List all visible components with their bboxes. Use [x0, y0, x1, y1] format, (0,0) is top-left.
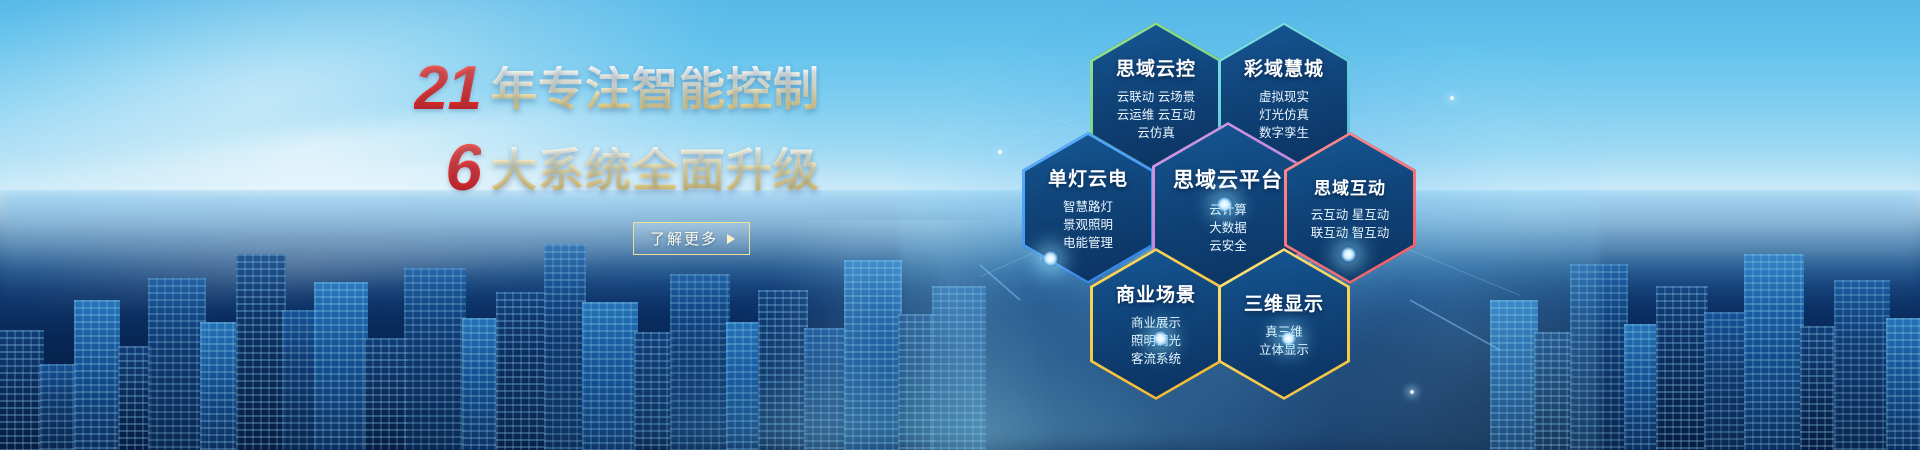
headline-number-6: 6: [445, 134, 481, 200]
learn-more-button[interactable]: 了解更多: [633, 222, 750, 255]
hex-sub-line: 电能管理: [1048, 234, 1128, 252]
headline-text-1: 年专注智能控制: [491, 66, 820, 112]
hex-sub-line: 客流系统: [1116, 350, 1196, 368]
headline-text-2: 大系统全面升级: [491, 147, 820, 193]
hex-sub-line: 虚拟现实: [1244, 88, 1324, 106]
network-node: [1042, 250, 1059, 267]
network-node: [1280, 330, 1297, 347]
hex-title: 三维显示: [1244, 289, 1324, 316]
network-node: [1152, 330, 1169, 347]
hex-sub-line: 云安全: [1173, 237, 1283, 255]
learn-more-label: 了解更多: [650, 228, 718, 249]
hex-sub-line: 景观照明: [1048, 216, 1128, 234]
hex-sub-line: 灯光仿真: [1244, 106, 1324, 124]
network-node: [1340, 246, 1357, 263]
hex-title: 思域云控: [1116, 54, 1196, 81]
headline-line-1: 21年专注智能控制: [300, 58, 820, 120]
hex-sub-line: 联互动 智互动: [1311, 224, 1389, 242]
network-spark: [1410, 390, 1414, 394]
play-triangle-icon: [727, 234, 735, 244]
hex-sub-line: 云联动 云场景: [1116, 88, 1196, 106]
hex-sub-line: 智慧路灯: [1048, 198, 1128, 216]
headline-number-21: 21: [414, 58, 481, 120]
hex-sub-line: 云仿真: [1116, 124, 1196, 142]
hex-sub-line: 云运维 云互动: [1116, 106, 1196, 124]
network-node: [1216, 196, 1233, 213]
hexagon-cluster: 思域云控 云联动 云场景 云运维 云互动 云仿真 彩域慧城 虚拟现实 灯光仿真 …: [980, 0, 1520, 450]
hex-title: 单灯云电: [1048, 164, 1128, 191]
hex-sub-line: 商业展示: [1116, 314, 1196, 332]
headline-block: 21年专注智能控制 6大系统全面升级 了解更多: [300, 58, 820, 255]
network-spark: [998, 150, 1002, 154]
hex-sub-line: 云互动 星互动: [1311, 206, 1389, 224]
network-spark: [1450, 96, 1454, 100]
promo-banner: 21年专注智能控制 6大系统全面升级 了解更多: [0, 0, 1920, 450]
hex-sub-line: 大数据: [1173, 219, 1283, 237]
hex-title: 商业场景: [1116, 280, 1196, 307]
hex-title: 思域互动: [1311, 174, 1389, 199]
headline-line-2: 6大系统全面升级: [300, 134, 820, 200]
hex-title: 思域云平台: [1173, 164, 1283, 194]
hex-title: 彩域慧城: [1244, 54, 1324, 81]
